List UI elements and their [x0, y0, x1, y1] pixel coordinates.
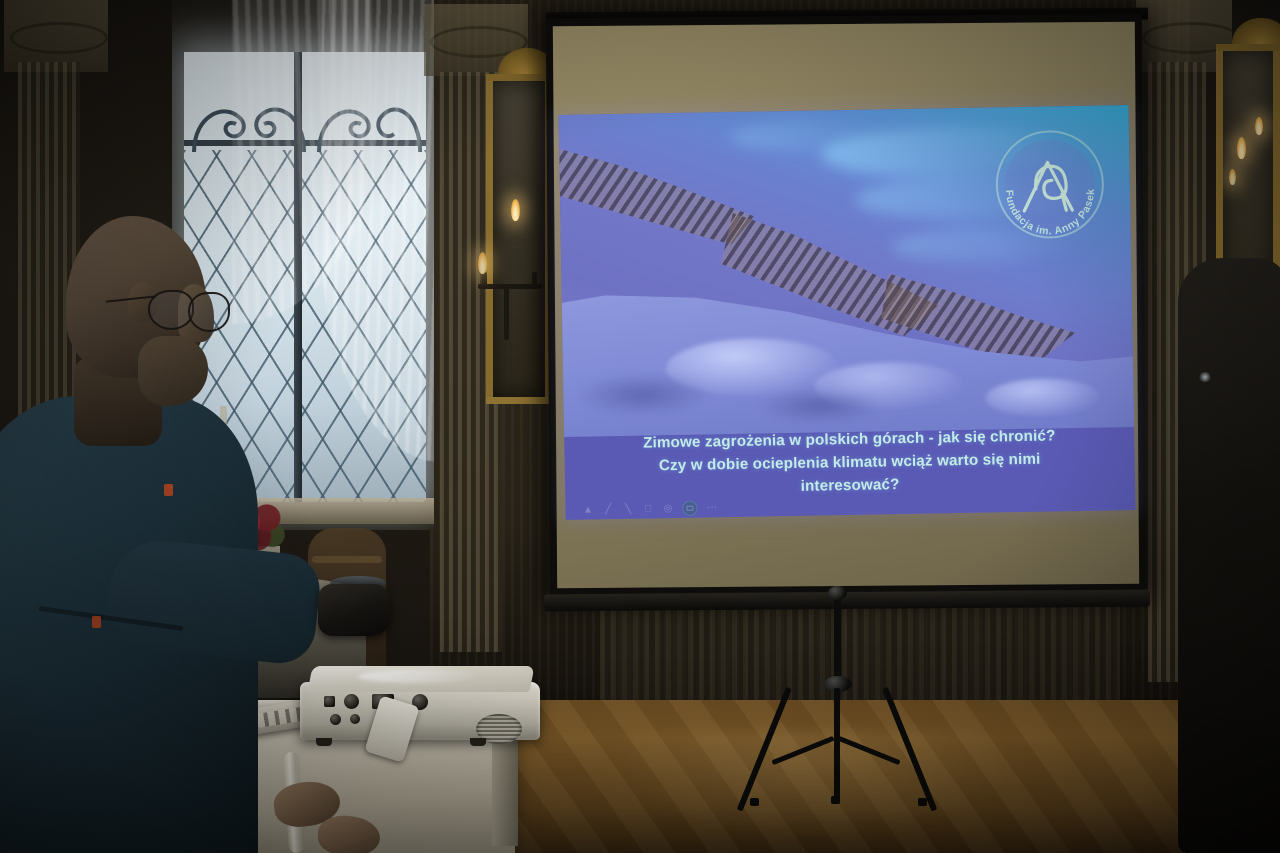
candle-flame-icon	[1229, 169, 1236, 185]
mirror-crest-right	[1232, 18, 1280, 44]
screen-frame: Fundacja im. Anny Pasek Zimowe zagrożeni…	[546, 14, 1147, 597]
presentation-toolbar[interactable]: ▲ ╱ ╲ □ ◎ ⋯	[582, 500, 717, 517]
pen-icon[interactable]: ╱	[602, 504, 613, 515]
projector-port-video[interactable]	[344, 694, 359, 709]
presentation-room-scene: Fundacja im. Anny Pasek Zimowe zagrożeni…	[0, 0, 1280, 853]
tripod-leg-left	[737, 687, 792, 812]
tripod-brace-left	[771, 736, 834, 765]
screen-tripod	[730, 592, 950, 824]
projector-top-cover	[307, 666, 534, 692]
candle-flame-icon	[1255, 117, 1263, 135]
statue-highlight	[1198, 372, 1212, 382]
shirt-logo-accent	[164, 484, 173, 496]
more-icon[interactable]: ⋯	[706, 502, 717, 513]
tripod-leg-right	[882, 687, 937, 812]
projector-port-hdmi[interactable]	[324, 696, 335, 707]
projector-port-audio[interactable]	[330, 714, 341, 725]
tripod-post	[834, 592, 841, 688]
tripod-brace-right	[837, 736, 900, 765]
highlighter-icon[interactable]: ╲	[622, 504, 633, 515]
held-camera	[318, 584, 390, 636]
projector[interactable]	[300, 666, 540, 746]
gilded-mirror-center	[486, 74, 552, 404]
candle-flame-icon	[511, 199, 520, 221]
tripod-foot-right	[918, 798, 927, 806]
projected-slide: Fundacja im. Anny Pasek Zimowe zagrożeni…	[559, 105, 1136, 520]
tripod-leg-center	[834, 688, 840, 800]
candle-flame-icon	[1237, 137, 1246, 159]
logo-org-name: Fundacja im. Anny Pasek	[1003, 188, 1098, 238]
laser-icon[interactable]: ◎	[662, 503, 673, 514]
slide-title-block: Zimowe zagrożenia w polskich górach - ja…	[593, 423, 1107, 501]
projector-port-aux[interactable]	[350, 714, 360, 724]
projection-screen-assembly: Fundacja im. Anny Pasek Zimowe zagrożeni…	[548, 16, 1148, 616]
foundation-logo: Fundacja im. Anny Pasek	[995, 130, 1105, 240]
dark-bronze-statue	[1178, 258, 1280, 853]
projector-glare	[355, 669, 481, 683]
foundation-name-arc: Fundacja im. Anny Pasek	[993, 128, 1107, 242]
chair-rail	[312, 556, 382, 563]
eraser-icon[interactable]: □	[642, 503, 653, 514]
screen-share-badge[interactable]	[682, 501, 697, 516]
tripod-foot-center	[831, 796, 840, 804]
sleeve-accent	[92, 616, 101, 628]
presenter-chin	[138, 336, 208, 406]
cursor-icon[interactable]: ▲	[582, 504, 593, 515]
presenter	[0, 216, 318, 853]
eyeglasses-icon	[148, 290, 230, 332]
tripod-foot-left	[750, 798, 759, 806]
tripod-top-knob	[828, 586, 847, 600]
